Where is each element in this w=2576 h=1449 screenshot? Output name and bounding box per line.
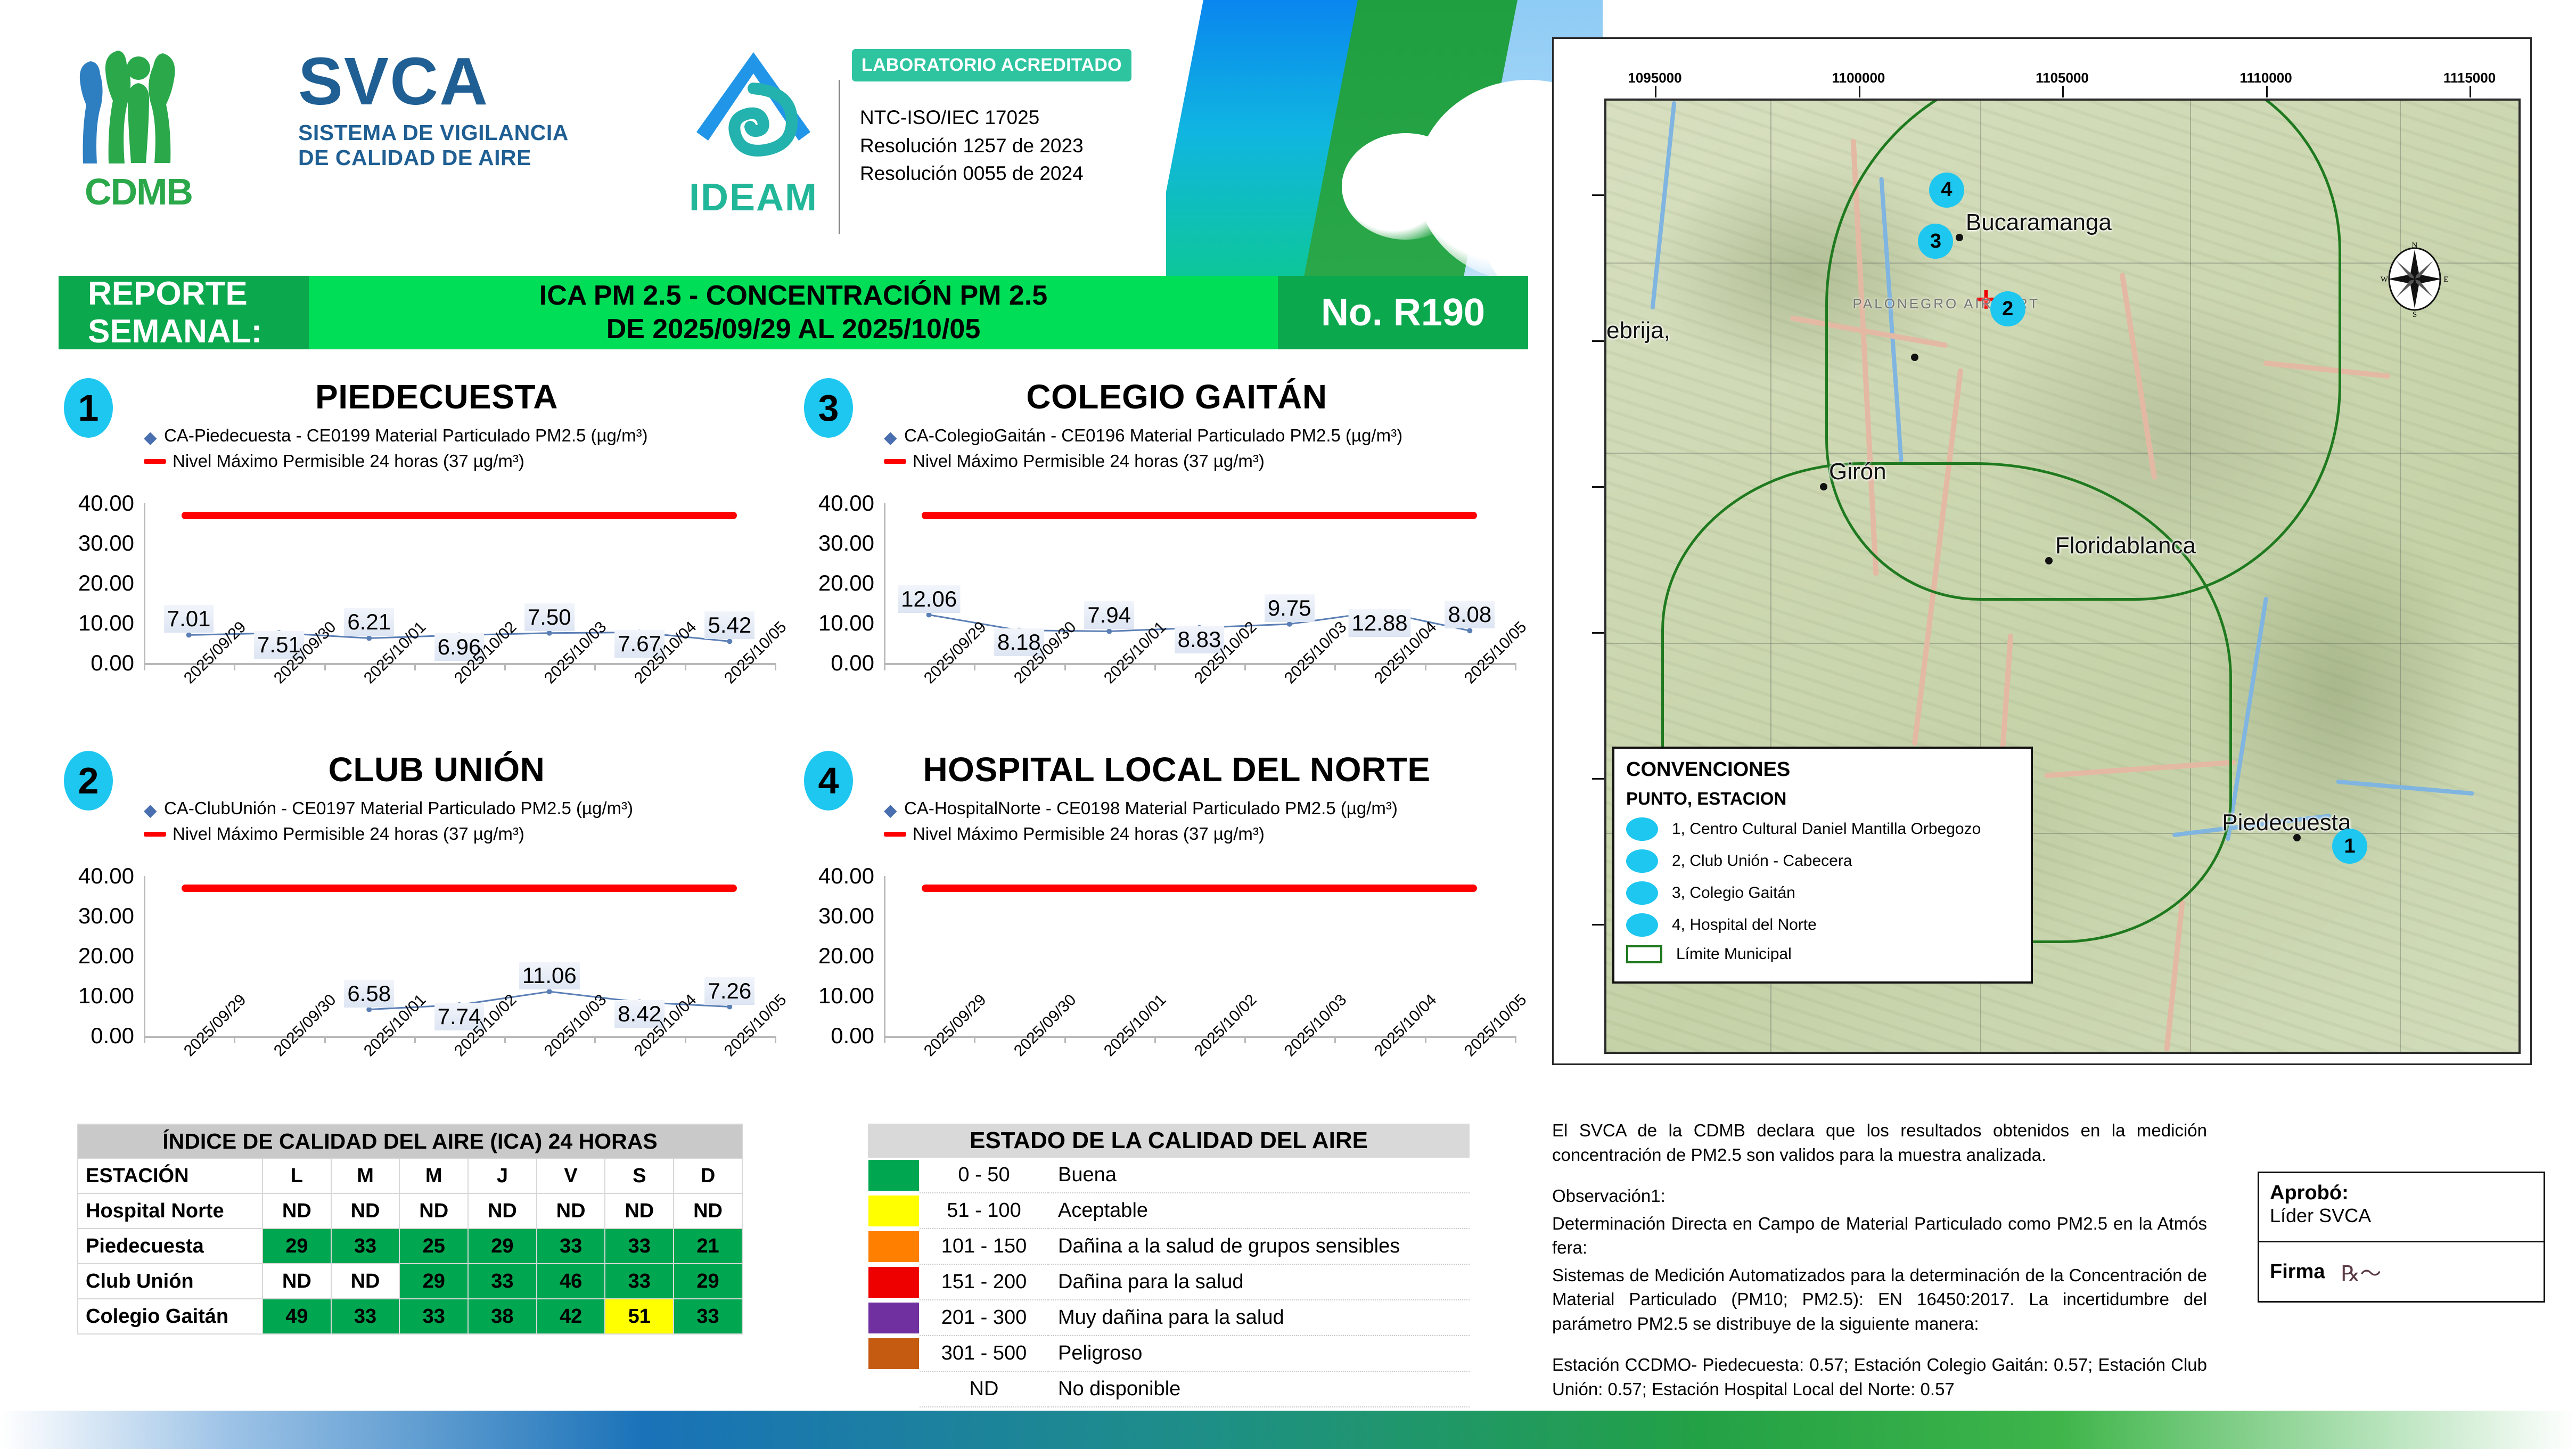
map-marker-3[interactable]: 3 — [1918, 224, 1953, 259]
map-legend-row-station-4: 4, Hospital del Norte — [1626, 913, 2019, 937]
aqi-description-label: Buena — [1048, 1158, 1470, 1193]
chart-title: COLEGIO GAITÁN — [863, 377, 1491, 416]
aqi-color-swatch — [868, 1158, 920, 1193]
ica-value-cell: 51 — [605, 1299, 674, 1334]
chart-plot-area: 0.0010.0020.0030.0040.002025/09/292025/0… — [799, 876, 1544, 1108]
ica-value-cell: ND — [399, 1193, 468, 1229]
ica-value-cell: 49 — [262, 1299, 331, 1334]
data-point-label: 12.06 — [898, 585, 960, 613]
city-label-floridablanca: Floridablanca — [2055, 533, 2196, 559]
data-point-label: 11.06 — [519, 962, 580, 989]
ica-value-cell: 33 — [605, 1229, 674, 1264]
map-marker-4[interactable]: 4 — [1929, 173, 1964, 208]
svca-logo: SVCA SISTEMA DE VIGILANCIA DE CALIDAD DE… — [298, 48, 596, 170]
map-legend-boundary-label: Límite Municipal — [1676, 945, 1792, 963]
limit-line-icon — [884, 832, 906, 837]
report-title-line1: ICA PM 2.5 - CONCENTRACIÓN PM 2.5 — [539, 279, 1047, 313]
aqi-range-label: 101 - 150 — [920, 1229, 1048, 1264]
aqi-range-label: 201 - 300 — [920, 1300, 1048, 1336]
aqi-legend-row: 301 - 500Peligroso — [868, 1336, 1470, 1371]
page-header: CDMB SVCA SISTEMA DE VIGILANCIA DE CALID… — [0, 0, 1166, 250]
ideam-logo-label: IDEAM — [687, 176, 820, 219]
report-title-banner: REPORTE SEMANAL: ICA PM 2.5 - CONCENTRAC… — [59, 276, 1528, 349]
map-x-tick-mark — [2266, 86, 2268, 97]
station-marker-icon — [1626, 817, 1658, 841]
map-legend-row-boundary: Límite Municipal — [1626, 945, 2019, 963]
ica-table-title: ÍNDICE DE CALIDAD DEL AIRE (ICA) 24 HORA… — [78, 1124, 742, 1158]
chart-series-line — [59, 876, 804, 1046]
ica-value-cell: 33 — [537, 1229, 605, 1264]
svg-text:S: S — [2413, 310, 2417, 319]
chart-title: HOSPITAL LOCAL DEL NORTE — [863, 750, 1491, 789]
table-row: Hospital NorteNDNDNDNDNDNDND — [78, 1193, 742, 1229]
ica-value-cell: 29 — [468, 1229, 537, 1264]
chart-title: PIEDECUESTA — [122, 377, 751, 416]
chart-series-line — [799, 876, 1544, 1046]
accreditation-standard: NTC-ISO/IEC 17025 — [860, 104, 1084, 132]
legend-series-label: CA-ClubUnión - CE0197 Material Particula… — [164, 799, 633, 818]
aqi-legend-row: 201 - 300Muy dañina para la salud — [868, 1300, 1470, 1336]
aqi-color-swatch — [868, 1264, 920, 1300]
report-title-line2: DE 2025/09/29 AL 2025/10/05 — [606, 313, 981, 346]
legend-series-label: CA-HospitalNorte - CE0198 Material Parti… — [904, 799, 1398, 818]
chart-piedecuesta: 1PIEDECUESTA◆CA-Piedecuesta - CE0199 Mat… — [59, 367, 804, 735]
legend-row-limit: Nivel Máximo Permisible 24 horas (37 µg/… — [884, 824, 1512, 844]
aqi-legend-row: NDNo disponible — [868, 1371, 1470, 1407]
data-point-label: 6.21 — [344, 608, 394, 636]
svg-text:E: E — [2443, 275, 2448, 284]
aqi-color-swatch — [868, 1371, 920, 1407]
accreditation-details: NTC-ISO/IEC 17025 Resolución 1257 de 202… — [860, 104, 1084, 188]
map-y-tick-mark — [1592, 924, 1604, 926]
ica-value-cell: 21 — [674, 1229, 742, 1264]
map-legend-conventions: CONVENCIONES PUNTO, ESTACION 1, Centro C… — [1612, 747, 2033, 984]
approval-box: Aprobó: Líder SVCA Firma ℞〜 — [2258, 1172, 2545, 1303]
legend-limit-label: Nivel Máximo Permisible 24 horas (37 µg/… — [173, 824, 524, 844]
legend-row-series: ◆CA-HospitalNorte - CE0198 Material Part… — [884, 799, 1512, 818]
ica-station-name: Club Unión — [78, 1264, 262, 1299]
map-x-tick-mark — [1655, 86, 1656, 97]
declaration-paragraph-4: Estación CCDMO- Piedecuesta: 0.57; Estac… — [1552, 1353, 2207, 1401]
approval-role: Líder SVCA — [2270, 1205, 2533, 1227]
accreditation-resolution-1: Resolución 1257 de 2023 — [860, 132, 1084, 160]
accreditation-resolution-2: Resolución 0055 de 2024 — [860, 160, 1084, 188]
ica-value-cell: ND — [468, 1193, 537, 1229]
aqi-legend-row: 0 - 50Buena — [868, 1158, 1470, 1193]
map-legend-row-station-3: 3, Colegio Gaitán — [1626, 881, 2019, 905]
ica-value-cell: 33 — [331, 1229, 400, 1264]
chart-panel-number: 2 — [64, 751, 113, 811]
map-legend-title: CONVENCIONES — [1626, 758, 2019, 781]
chart-legend: ◆CA-HospitalNorte - CE0198 Material Part… — [884, 799, 1512, 850]
report-number: No. R190 — [1278, 276, 1528, 349]
aqi-color-swatch — [868, 1229, 920, 1264]
data-point-label: 7.94 — [1084, 601, 1134, 629]
map-y-tick-mark — [1592, 778, 1604, 780]
legend-row-limit: Nivel Máximo Permisible 24 horas (37 µg/… — [144, 824, 772, 844]
aqi-description-label: Dañina a la salud de grupos sensibles — [1048, 1229, 1470, 1264]
ica-value-cell: ND — [331, 1264, 400, 1299]
chart-panel-number: 4 — [804, 751, 853, 811]
declaration-paragraph-3: Sistemas de Medición Automatizados para … — [1552, 1263, 2207, 1336]
footer-gradient-bar — [0, 1411, 2576, 1449]
legend-limit-label: Nivel Máximo Permisible 24 horas (37 µg/… — [913, 824, 1265, 844]
ica-value-cell: 42 — [537, 1299, 605, 1334]
legend-limit-label: Nivel Máximo Permisible 24 horas (37 µg/… — [913, 452, 1265, 471]
map-legend-station-label: 3, Colegio Gaitán — [1672, 884, 1795, 902]
ica-value-cell: ND — [605, 1193, 674, 1229]
limit-line-icon — [144, 832, 166, 837]
chart-legend: ◆CA-ClubUnión - CE0197 Material Particul… — [144, 799, 772, 850]
map-legend-row-station-2: 2, Club Unión - Cabecera — [1626, 849, 2019, 873]
ideam-logo: IDEAM — [687, 43, 820, 224]
limit-line-icon — [884, 459, 906, 464]
map-x-tick-label: 1100000 — [1832, 70, 1885, 86]
ica-value-cell: ND — [331, 1193, 400, 1229]
aqi-range-label: 301 - 500 — [920, 1336, 1048, 1371]
diamond-marker-icon: ◆ — [144, 429, 158, 443]
limit-line-icon — [144, 459, 166, 464]
aqi-legend-title: ESTADO DE LA CALIDAD DEL AIRE — [868, 1124, 1470, 1158]
ica-column-day: J — [468, 1158, 537, 1193]
map-marker-1[interactable]: 1 — [2332, 829, 2367, 864]
station-marker-icon — [1626, 849, 1658, 873]
data-point-label: 6.58 — [344, 980, 394, 1008]
chart-plot-area: 0.0010.0020.0030.0040.0012.068.187.948.8… — [799, 503, 1544, 735]
report-title: ICA PM 2.5 - CONCENTRACIÓN PM 2.5 DE 202… — [309, 276, 1278, 349]
ica-value-cell: 33 — [674, 1299, 742, 1334]
chart-title: CLUB UNIÓN — [122, 750, 751, 789]
ica-value-cell: ND — [262, 1193, 331, 1229]
diamond-marker-icon: ◆ — [884, 801, 898, 815]
chart-legend: ◆CA-Piedecuesta - CE0199 Material Partic… — [144, 426, 772, 478]
svca-subtitle-line1: SISTEMA DE VIGILANCIA — [298, 120, 596, 145]
aqi-description-label: Peligroso — [1048, 1336, 1470, 1371]
diamond-marker-icon: ◆ — [144, 801, 158, 815]
declaration-text: El SVCA de la CDMB declara que los resul… — [1552, 1118, 2207, 1404]
approval-label: Aprobó: — [2270, 1182, 2349, 1204]
signature-label: Firma — [2270, 1260, 2325, 1283]
ica-column-day: V — [537, 1158, 605, 1193]
map-y-tick-mark — [1592, 340, 1604, 342]
map-y-tick-mark — [1592, 632, 1604, 634]
ica-value-cell: 25 — [399, 1229, 468, 1264]
aqi-range-label: 151 - 200 — [920, 1264, 1048, 1300]
ica-column-day: D — [674, 1158, 742, 1193]
aqi-description-label: Dañina para la salud — [1048, 1264, 1470, 1300]
municipal-boundary-icon — [1626, 945, 1662, 963]
map-legend-station-label: 4, Hospital del Norte — [1672, 916, 1817, 934]
station-marker-icon — [1626, 913, 1658, 937]
chart-panel-number: 3 — [804, 378, 853, 438]
ica-value-cell: ND — [537, 1193, 605, 1229]
map-x-tick-mark — [1859, 86, 1860, 97]
data-point-label: 8.08 — [1445, 601, 1495, 628]
observation-title: Observación1: — [1552, 1184, 2207, 1208]
ica-station-name: Colegio Gaitán — [78, 1299, 262, 1334]
data-point-label: 7.26 — [704, 977, 754, 1005]
chart-hospital-local-del-norte: 4HOSPITAL LOCAL DEL NORTE◆CA-HospitalNor… — [799, 740, 1544, 1108]
data-point-label: 9.75 — [1265, 594, 1315, 622]
ica-value-cell: 38 — [468, 1299, 537, 1334]
table-row: Colegio Gaitán49333338425133 — [78, 1299, 742, 1334]
ica-table-header-row: ESTACIÓNLMMJVSD — [78, 1158, 742, 1193]
svca-acronym: SVCA — [298, 48, 596, 115]
chart-panel-number: 1 — [64, 378, 113, 438]
ica-value-cell: 29 — [262, 1229, 331, 1264]
legend-row-limit: Nivel Máximo Permisible 24 horas (37 µg/… — [884, 452, 1512, 471]
vertical-divider — [839, 80, 840, 234]
ica-value-cell: 29 — [674, 1264, 742, 1299]
aqi-color-swatch — [868, 1193, 920, 1229]
ica-value-cell: 33 — [331, 1299, 400, 1334]
map-legend-subtitle: PUNTO, ESTACION — [1626, 789, 2019, 809]
report-type-label: REPORTE SEMANAL: — [59, 276, 309, 349]
chart-legend: ◆CA-ColegioGaitán - CE0196 Material Part… — [884, 426, 1512, 478]
signature-section: Firma ℞〜 — [2259, 1242, 2544, 1301]
svg-text:N: N — [2412, 241, 2418, 250]
ica-column-day: M — [331, 1158, 400, 1193]
aqi-legend-table: ESTADO DE LA CALIDAD DEL AIRE 0 - 50Buen… — [868, 1124, 1470, 1407]
approval-section: Aprobó: Líder SVCA — [2259, 1173, 2544, 1242]
location-map[interactable]: 10950001100000110500011100001115000 1285… — [1552, 37, 2532, 1065]
aqi-range-label: 51 - 100 — [920, 1193, 1048, 1229]
map-legend-row-station-1: 1, Centro Cultural Daniel Mantilla Orbeg… — [1626, 817, 2019, 841]
ica-station-name: Piedecuesta — [78, 1229, 262, 1264]
aqi-legend-row: 101 - 150Dañina a la salud de grupos sen… — [868, 1229, 1470, 1264]
map-marker-2[interactable]: 2 — [1990, 291, 2025, 326]
map-x-tick-mark — [2062, 86, 2064, 97]
aqi-description-label: Aceptable — [1048, 1193, 1470, 1229]
data-point-label: 7.01 — [164, 605, 214, 633]
ica-value-cell: 33 — [605, 1264, 674, 1299]
cloud-icon — [1342, 133, 1470, 240]
city-label-bucaramanga: Bucaramanga — [1966, 209, 2112, 236]
aqi-color-swatch — [868, 1300, 920, 1336]
ica-column-day: S — [605, 1158, 674, 1193]
compass-rose-icon: N E S W — [2380, 239, 2449, 319]
ica-column-day: L — [262, 1158, 331, 1193]
ica-value-cell: ND — [674, 1193, 742, 1229]
ica-value-cell: 33 — [468, 1264, 537, 1299]
cdmb-logo-label: CDMB — [59, 170, 218, 213]
map-x-tick-label: 1110000 — [2239, 70, 2292, 86]
ica-value-cell: ND — [262, 1264, 331, 1299]
ideam-spiral-icon — [687, 43, 820, 176]
aqi-legend-row: 51 - 100Aceptable — [868, 1193, 1470, 1229]
chart-colegio-gaitan: 3COLEGIO GAITÁN◆CA-ColegioGaitán - CE019… — [799, 367, 1544, 735]
map-x-tick-mark — [2470, 86, 2471, 97]
legend-series-label: CA-ColegioGaitán - CE0196 Material Parti… — [904, 426, 1402, 445]
map-y-tick-mark — [1592, 194, 1604, 196]
cdmb-logo: CDMB — [59, 37, 218, 213]
legend-series-label: CA-Piedecuesta - CE0199 Material Particu… — [164, 426, 648, 445]
legend-limit-label: Nivel Máximo Permisible 24 horas (37 µg/… — [173, 452, 524, 471]
aqi-range-label: ND — [920, 1371, 1048, 1407]
svca-subtitle-line2: DE CALIDAD DE AIRE — [298, 145, 596, 170]
aqi-color-swatch — [868, 1336, 920, 1371]
chart-series-line — [59, 503, 804, 674]
map-y-tick-mark — [1592, 486, 1604, 488]
map-x-tick-label: 1095000 — [1628, 70, 1681, 86]
declaration-paragraph-1: El SVCA de la CDMB declara que los resul… — [1552, 1118, 2207, 1167]
signature-mark: ℞〜 — [2341, 1256, 2381, 1287]
city-label-piedecuesta: Piedecuesta — [2222, 809, 2351, 836]
aqi-description-label: Muy dañina para la salud — [1048, 1300, 1470, 1336]
table-row: Piedecuesta29332529333321 — [78, 1229, 742, 1264]
ica-value-cell: 33 — [399, 1299, 468, 1334]
legend-row-limit: Nivel Máximo Permisible 24 horas (37 µg/… — [144, 452, 772, 471]
chart-plot-area: 0.0010.0020.0030.0040.006.587.7411.068.4… — [59, 876, 804, 1108]
sky-decoration — [1166, 0, 1603, 298]
ica-station-name: Hospital Norte — [78, 1193, 262, 1229]
chart-club-union: 2CLUB UNIÓN◆CA-ClubUnión - CE0197 Materi… — [59, 740, 804, 1108]
legend-row-series: ◆CA-Piedecuesta - CE0199 Material Partic… — [144, 426, 772, 445]
ica-value-cell: 29 — [399, 1264, 468, 1299]
map-x-tick-label: 1115000 — [2443, 70, 2496, 86]
data-point-label: 12.88 — [1349, 609, 1411, 637]
city-label-giron: Girón — [1829, 459, 1886, 485]
station-marker-icon — [1626, 881, 1658, 905]
table-row: Club UniónNDND2933463329 — [78, 1264, 742, 1299]
map-x-tick-label: 1105000 — [2036, 70, 2089, 86]
declaration-paragraph-2: Determinación Directa en Campo de Materi… — [1552, 1211, 2207, 1260]
ica-value-cell: 46 — [537, 1264, 605, 1299]
map-legend-station-label: 1, Centro Cultural Daniel Mantilla Orbeg… — [1672, 820, 1981, 838]
ica-column-station: ESTACIÓN — [78, 1158, 262, 1193]
aqi-legend-row: 151 - 200Dañina para la salud — [868, 1264, 1470, 1300]
aqi-range-label: 0 - 50 — [920, 1158, 1048, 1193]
legend-row-series: ◆CA-ClubUnión - CE0197 Material Particul… — [144, 799, 772, 818]
data-point-label: 5.42 — [704, 611, 754, 639]
accreditation-badge: LABORATORIO ACREDITADO — [852, 49, 1131, 81]
diamond-marker-icon: ◆ — [884, 429, 898, 443]
aqi-description-label: No disponible — [1048, 1371, 1470, 1407]
city-label-lebrija: ebrija, — [1606, 317, 1670, 344]
legend-row-series: ◆CA-ColegioGaitán - CE0196 Material Part… — [884, 426, 1512, 445]
ica-table: ÍNDICE DE CALIDAD DEL AIRE (ICA) 24 HORA… — [77, 1124, 743, 1335]
data-point-label: 7.50 — [524, 603, 575, 631]
cdmb-people-icon — [59, 37, 218, 170]
chart-plot-area: 0.0010.0020.0030.0040.007.017.516.216.96… — [59, 503, 804, 735]
ica-column-day: M — [399, 1158, 468, 1193]
map-legend-station-label: 2, Club Unión - Cabecera — [1672, 852, 1852, 870]
svg-text:W: W — [2381, 275, 2389, 284]
